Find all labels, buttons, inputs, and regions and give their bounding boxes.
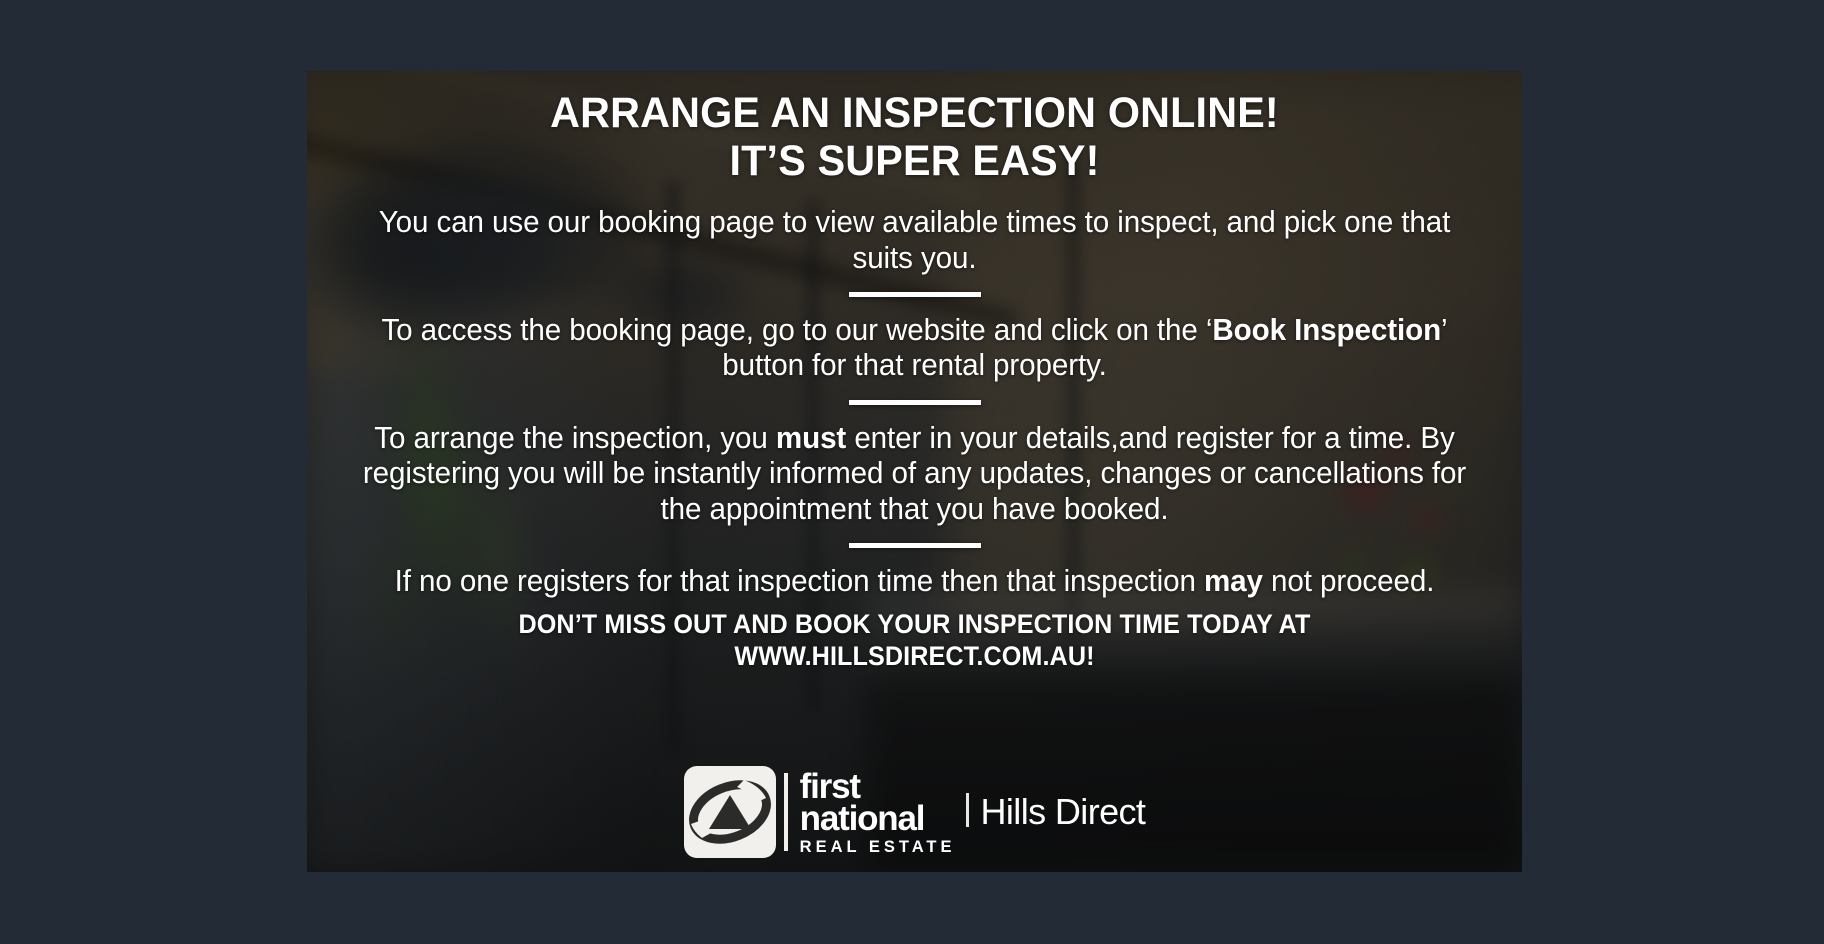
first-national-logo-lockup: first national REAL ESTATE Hills Direct [307, 766, 1522, 858]
emphasis-may: may [1204, 564, 1263, 598]
first-national-swirl-icon [684, 766, 776, 858]
logo-pipe-separator [966, 793, 969, 827]
divider-1 [849, 292, 981, 297]
emphasis-book-inspection: Book Inspection [1212, 313, 1441, 347]
paragraph-book-inspection-lead: To access the booking page, go to our we… [381, 313, 1212, 347]
paragraph-book-inspection: To access the booking page, go to our we… [325, 313, 1504, 384]
paragraph-booking-page: You can use our booking page to view ava… [325, 205, 1504, 276]
emphasis-must: must [776, 421, 846, 455]
cta-line-1: DON’T MISS OUT AND BOOK YOUR INSPECTION … [518, 609, 1310, 639]
cta-block: DON’T MISS OUT AND BOOK YOUR INSPECTION … [337, 609, 1491, 672]
logo-word-real-estate: REAL ESTATE [800, 839, 956, 856]
paragraph-must-register: To arrange the inspection, you must ente… [325, 421, 1504, 527]
headline-line-1: ARRANGE AN INSPECTION ONLINE! [331, 89, 1497, 137]
divider-2 [849, 400, 981, 405]
logo-office-lockup: Hills Direct [966, 793, 1146, 831]
inspection-flyer-card: ARRANGE AN INSPECTION ONLINE! IT’S SUPER… [307, 71, 1522, 872]
paragraph-must-register-lead: To arrange the inspection, you [374, 421, 776, 455]
headline-line-2: IT’S SUPER EASY! [331, 137, 1497, 185]
cta-line-2: WWW.HILLSDIRECT.COM.AU! [734, 641, 1094, 671]
paragraph-may-not-proceed-lead: If no one registers for that inspection … [395, 564, 1204, 598]
headline-block: ARRANGE AN INSPECTION ONLINE! IT’S SUPER… [307, 71, 1522, 185]
logo-office-name: Hills Direct [981, 795, 1146, 829]
logo-word-national: national [800, 801, 956, 836]
screenshot-canvas: ARRANGE AN INSPECTION ONLINE! IT’S SUPER… [0, 0, 1824, 944]
divider-3 [849, 543, 981, 548]
paragraph-may-not-proceed-tail: not proceed. [1263, 564, 1434, 598]
paragraph-booking-page-text: You can use our booking page to view ava… [379, 205, 1451, 274]
paragraph-may-not-proceed: If no one registers for that inspection … [325, 564, 1504, 599]
logo-vertical-rule [784, 773, 788, 851]
flyer-content: ARRANGE AN INSPECTION ONLINE! IT’S SUPER… [307, 71, 1522, 872]
logo-wordmark: first national REAL ESTATE [800, 769, 956, 856]
